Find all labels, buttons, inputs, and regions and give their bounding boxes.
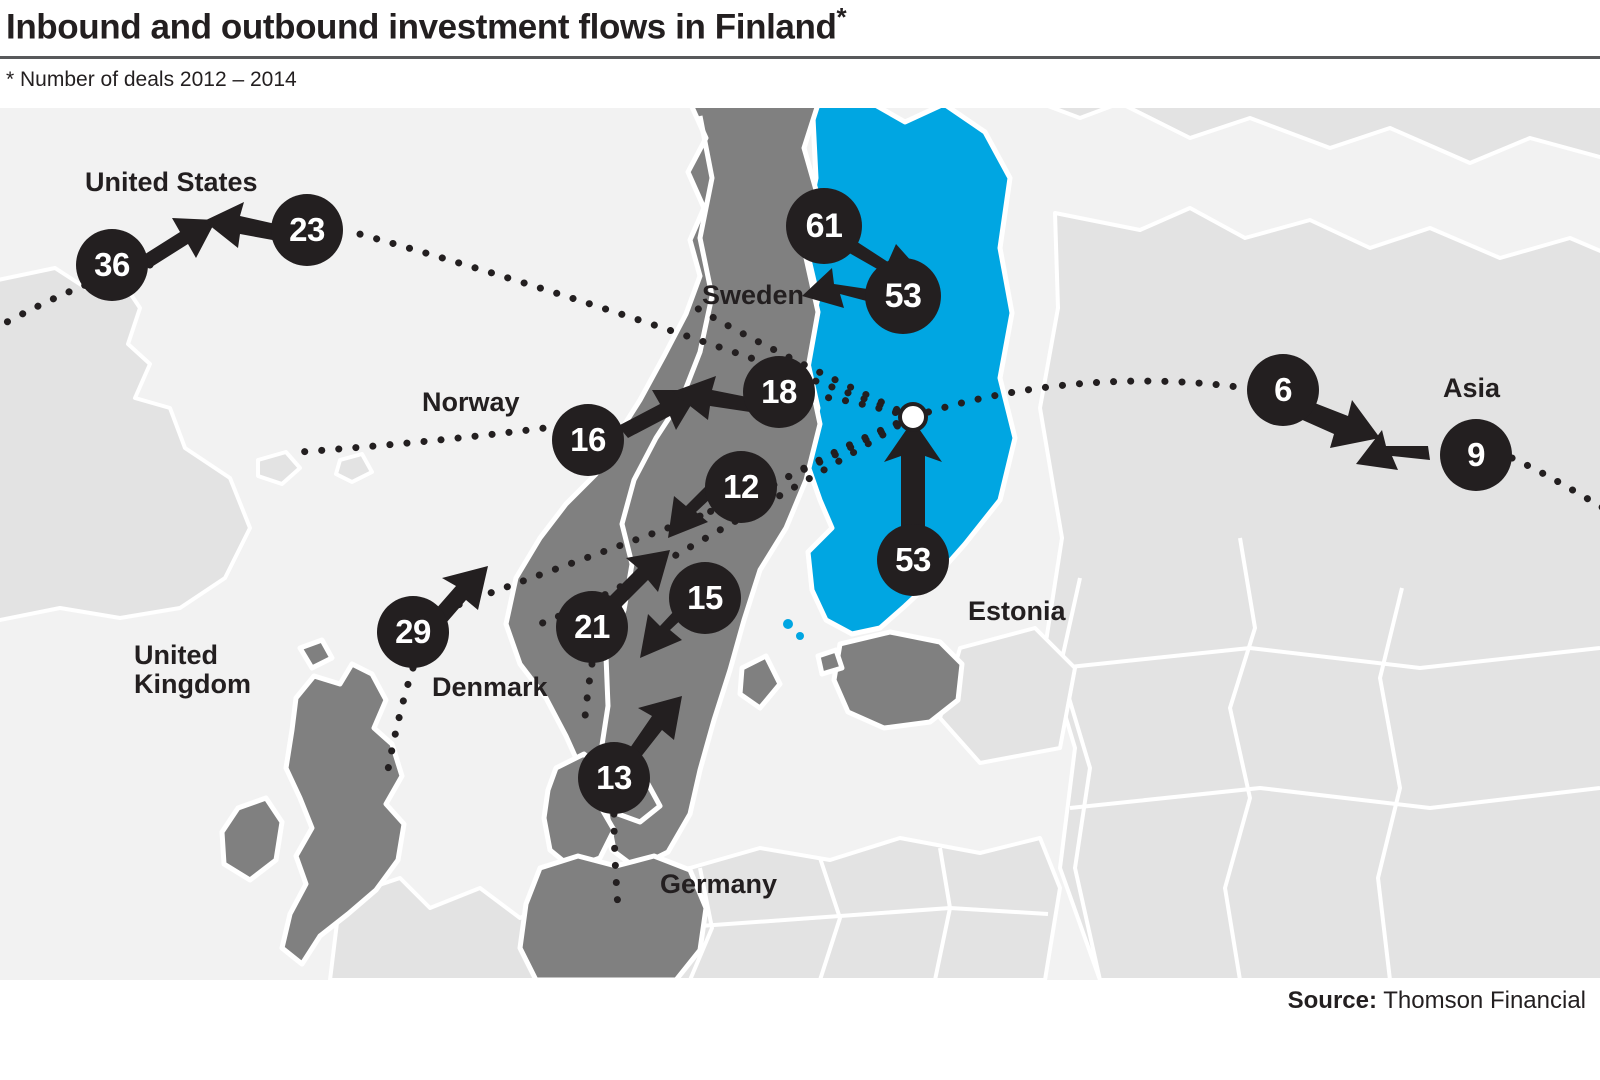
estonia-shape	[834, 632, 962, 728]
source-label: Source:	[1288, 987, 1377, 1014]
saaremaa-shape	[818, 650, 842, 674]
page-title-text: Inbound and outbound investment flows in…	[6, 8, 836, 47]
page-subtitle: * Number of deals 2012 – 2014	[6, 68, 297, 92]
bubble-united-kingdom-outbound[interactable]: 29	[377, 596, 449, 668]
label-germany: Germany	[660, 870, 777, 899]
bubble-denmark-outbound[interactable]: 21	[556, 591, 628, 663]
header-divider	[0, 56, 1600, 59]
label-asia: Asia	[1443, 374, 1500, 403]
label-norway: Norway	[422, 388, 520, 417]
bubble-germany-outbound[interactable]: 13	[578, 742, 650, 814]
finland-hub-dot	[900, 404, 926, 430]
russia-shape	[1040, 208, 1600, 980]
label-united-states: United States	[85, 168, 258, 197]
bubble-norway-inbound[interactable]: 18	[743, 356, 815, 428]
source-note: Source: Thomson Financial	[1288, 987, 1586, 1015]
bubble-germany-inbound[interactable]: 15	[669, 562, 741, 634]
page-title: Inbound and outbound investment flows in…	[6, 2, 846, 48]
bubble-denmark-inbound[interactable]: 12	[705, 451, 777, 523]
label-denmark: Denmark	[432, 673, 548, 702]
bubble-estonia-outbound[interactable]: 53	[877, 524, 949, 596]
bubble-norway-outbound[interactable]: 16	[552, 404, 624, 476]
map-canvas: United States Sweden Norway United Kingd…	[0, 108, 1600, 980]
bubble-united-states-inbound[interactable]: 23	[271, 194, 343, 266]
label-estonia: Estonia	[968, 597, 1066, 626]
title-asterisk: *	[836, 2, 846, 32]
bubble-asia-outbound[interactable]: 6	[1247, 354, 1319, 426]
bubble-asia-inbound[interactable]: 9	[1440, 419, 1512, 491]
footer: Source: Thomson Financial	[0, 980, 1600, 1080]
label-united-kingdom: United Kingdom	[134, 641, 251, 699]
label-sweden: Sweden	[702, 281, 804, 310]
bubble-united-states-outbound[interactable]: 36	[76, 229, 148, 301]
bubble-sweden-outbound[interactable]: 61	[786, 188, 862, 264]
infographic-page: Inbound and outbound investment flows in…	[0, 0, 1600, 1080]
bubble-sweden-inbound[interactable]: 53	[865, 258, 941, 334]
header: Inbound and outbound investment flows in…	[0, 0, 1600, 108]
source-value: Thomson Financial	[1383, 987, 1586, 1014]
